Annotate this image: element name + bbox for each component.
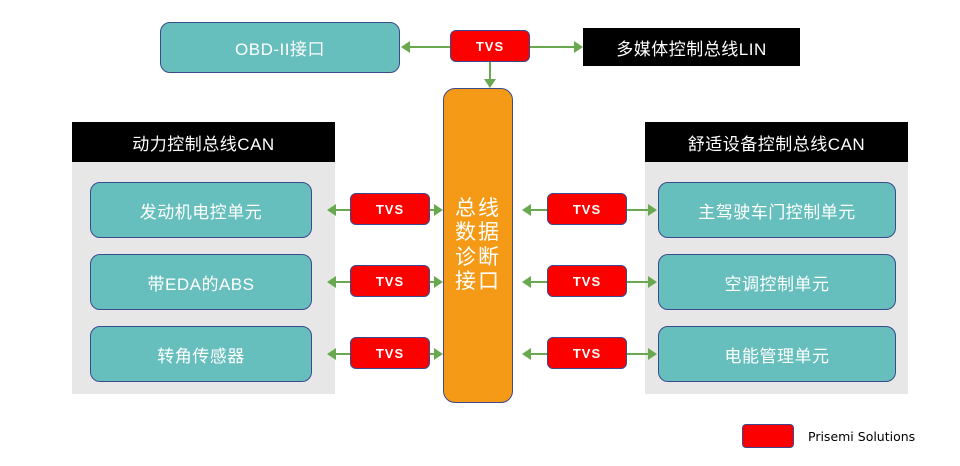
connector-tvs-to-obd	[410, 46, 450, 48]
center-label-line-4: 接口	[455, 270, 501, 294]
node-bus-data-diagnostic-interface[interactable]: 总线 数据 诊断 接口	[443, 88, 513, 403]
connector-tvs-right-3-to-center	[531, 353, 547, 355]
node-hvac-control-unit[interactable]: 空调控制单元	[658, 254, 896, 310]
node-driver-door-control-unit-label: 主驾驶车门控制单元	[698, 198, 856, 223]
arrowhead-tvs-to-center	[484, 79, 496, 88]
tvs-top-label: TVS	[476, 39, 504, 54]
connector-tvs-to-lin	[530, 46, 574, 48]
arrowhead-tvs-right-3-to-center	[522, 348, 531, 360]
tvs-left-2-label: TVS	[376, 274, 404, 289]
node-driver-door-control-unit[interactable]: 主驾驶车门控制单元	[658, 182, 896, 238]
legend-swatch-tvs	[742, 424, 794, 448]
tvs-left-2[interactable]: TVS	[350, 265, 430, 297]
arrowhead-tvs-right-2-to-node	[648, 276, 657, 288]
arrowhead-tvs-left-3-to-node	[327, 348, 336, 360]
tvs-top[interactable]: TVS	[450, 30, 530, 62]
tvs-right-3[interactable]: TVS	[547, 337, 627, 369]
connector-tvs-to-center	[489, 62, 491, 80]
right-panel-header: 舒适设备控制总线CAN	[645, 122, 908, 162]
arrowhead-tvs-left-1-to-center	[434, 204, 443, 216]
node-steering-angle-sensor[interactable]: 转角传感器	[90, 326, 312, 382]
arrowhead-tvs-left-1-to-node	[327, 204, 336, 216]
legend: Prisemi Solutions	[742, 424, 915, 448]
tvs-right-1-label: TVS	[573, 202, 601, 217]
connector-tvs-right-2-to-center	[531, 281, 547, 283]
connector-tvs-right-2-to-node	[627, 281, 648, 283]
node-obd-ii-interface[interactable]: OBD-II接口	[160, 22, 400, 73]
tvs-left-3-label: TVS	[376, 346, 404, 361]
arrowhead-tvs-right-2-to-center	[522, 276, 531, 288]
node-abs-with-eda[interactable]: 带EDA的ABS	[90, 254, 312, 310]
node-bus-data-diagnostic-interface-label: 总线 数据 诊断 接口	[455, 197, 501, 294]
node-steering-angle-sensor-label: 转角传感器	[157, 342, 245, 367]
connector-tvs-left-1-to-node	[336, 209, 350, 211]
node-hvac-control-unit-label: 空调控制单元	[725, 270, 830, 295]
arrowhead-tvs-left-2-to-node	[327, 276, 336, 288]
arrowhead-tvs-right-1-to-center	[522, 204, 531, 216]
node-lin-bus-label: 多媒体控制总线LIN	[616, 35, 766, 60]
node-power-management-unit[interactable]: 电能管理单元	[658, 326, 896, 382]
connector-tvs-right-3-to-node	[627, 353, 648, 355]
left-panel-header: 动力控制总线CAN	[72, 122, 335, 162]
node-power-management-unit-label: 电能管理单元	[725, 342, 830, 367]
node-abs-with-eda-label: 带EDA的ABS	[148, 270, 255, 295]
connector-tvs-left-3-to-node	[336, 353, 350, 355]
tvs-right-2-label: TVS	[573, 274, 601, 289]
tvs-left-3[interactable]: TVS	[350, 337, 430, 369]
node-obd-ii-interface-label: OBD-II接口	[235, 35, 325, 60]
arrowhead-tvs-left-3-to-center	[434, 348, 443, 360]
tvs-left-1[interactable]: TVS	[350, 193, 430, 225]
tvs-left-1-label: TVS	[376, 202, 404, 217]
diagram-canvas: OBD-II接口 TVS 多媒体控制总线LIN 总线 数据 诊断 接口 动力控制…	[0, 0, 960, 466]
tvs-right-2[interactable]: TVS	[547, 265, 627, 297]
tvs-right-1[interactable]: TVS	[547, 193, 627, 225]
arrowhead-tvs-to-obd	[401, 41, 410, 53]
arrowhead-tvs-right-1-to-node	[648, 204, 657, 216]
center-label-line-2: 数据	[455, 221, 501, 245]
node-engine-ecu-label: 发动机电控单元	[140, 198, 263, 223]
legend-label: Prisemi Solutions	[808, 429, 915, 444]
connector-tvs-right-1-to-node	[627, 209, 648, 211]
connector-tvs-left-2-to-node	[336, 281, 350, 283]
connector-tvs-right-1-to-center	[531, 209, 547, 211]
left-panel-header-label: 动力控制总线CAN	[132, 130, 274, 155]
center-label-line-1: 总线	[455, 197, 501, 221]
node-lin-bus[interactable]: 多媒体控制总线LIN	[583, 28, 800, 66]
arrowhead-tvs-left-2-to-center	[434, 276, 443, 288]
arrowhead-tvs-to-lin	[574, 41, 583, 53]
node-engine-ecu[interactable]: 发动机电控单元	[90, 182, 312, 238]
tvs-right-3-label: TVS	[573, 346, 601, 361]
arrowhead-tvs-right-3-to-node	[648, 348, 657, 360]
right-panel-header-label: 舒适设备控制总线CAN	[688, 130, 865, 155]
center-label-line-3: 诊断	[455, 246, 501, 270]
